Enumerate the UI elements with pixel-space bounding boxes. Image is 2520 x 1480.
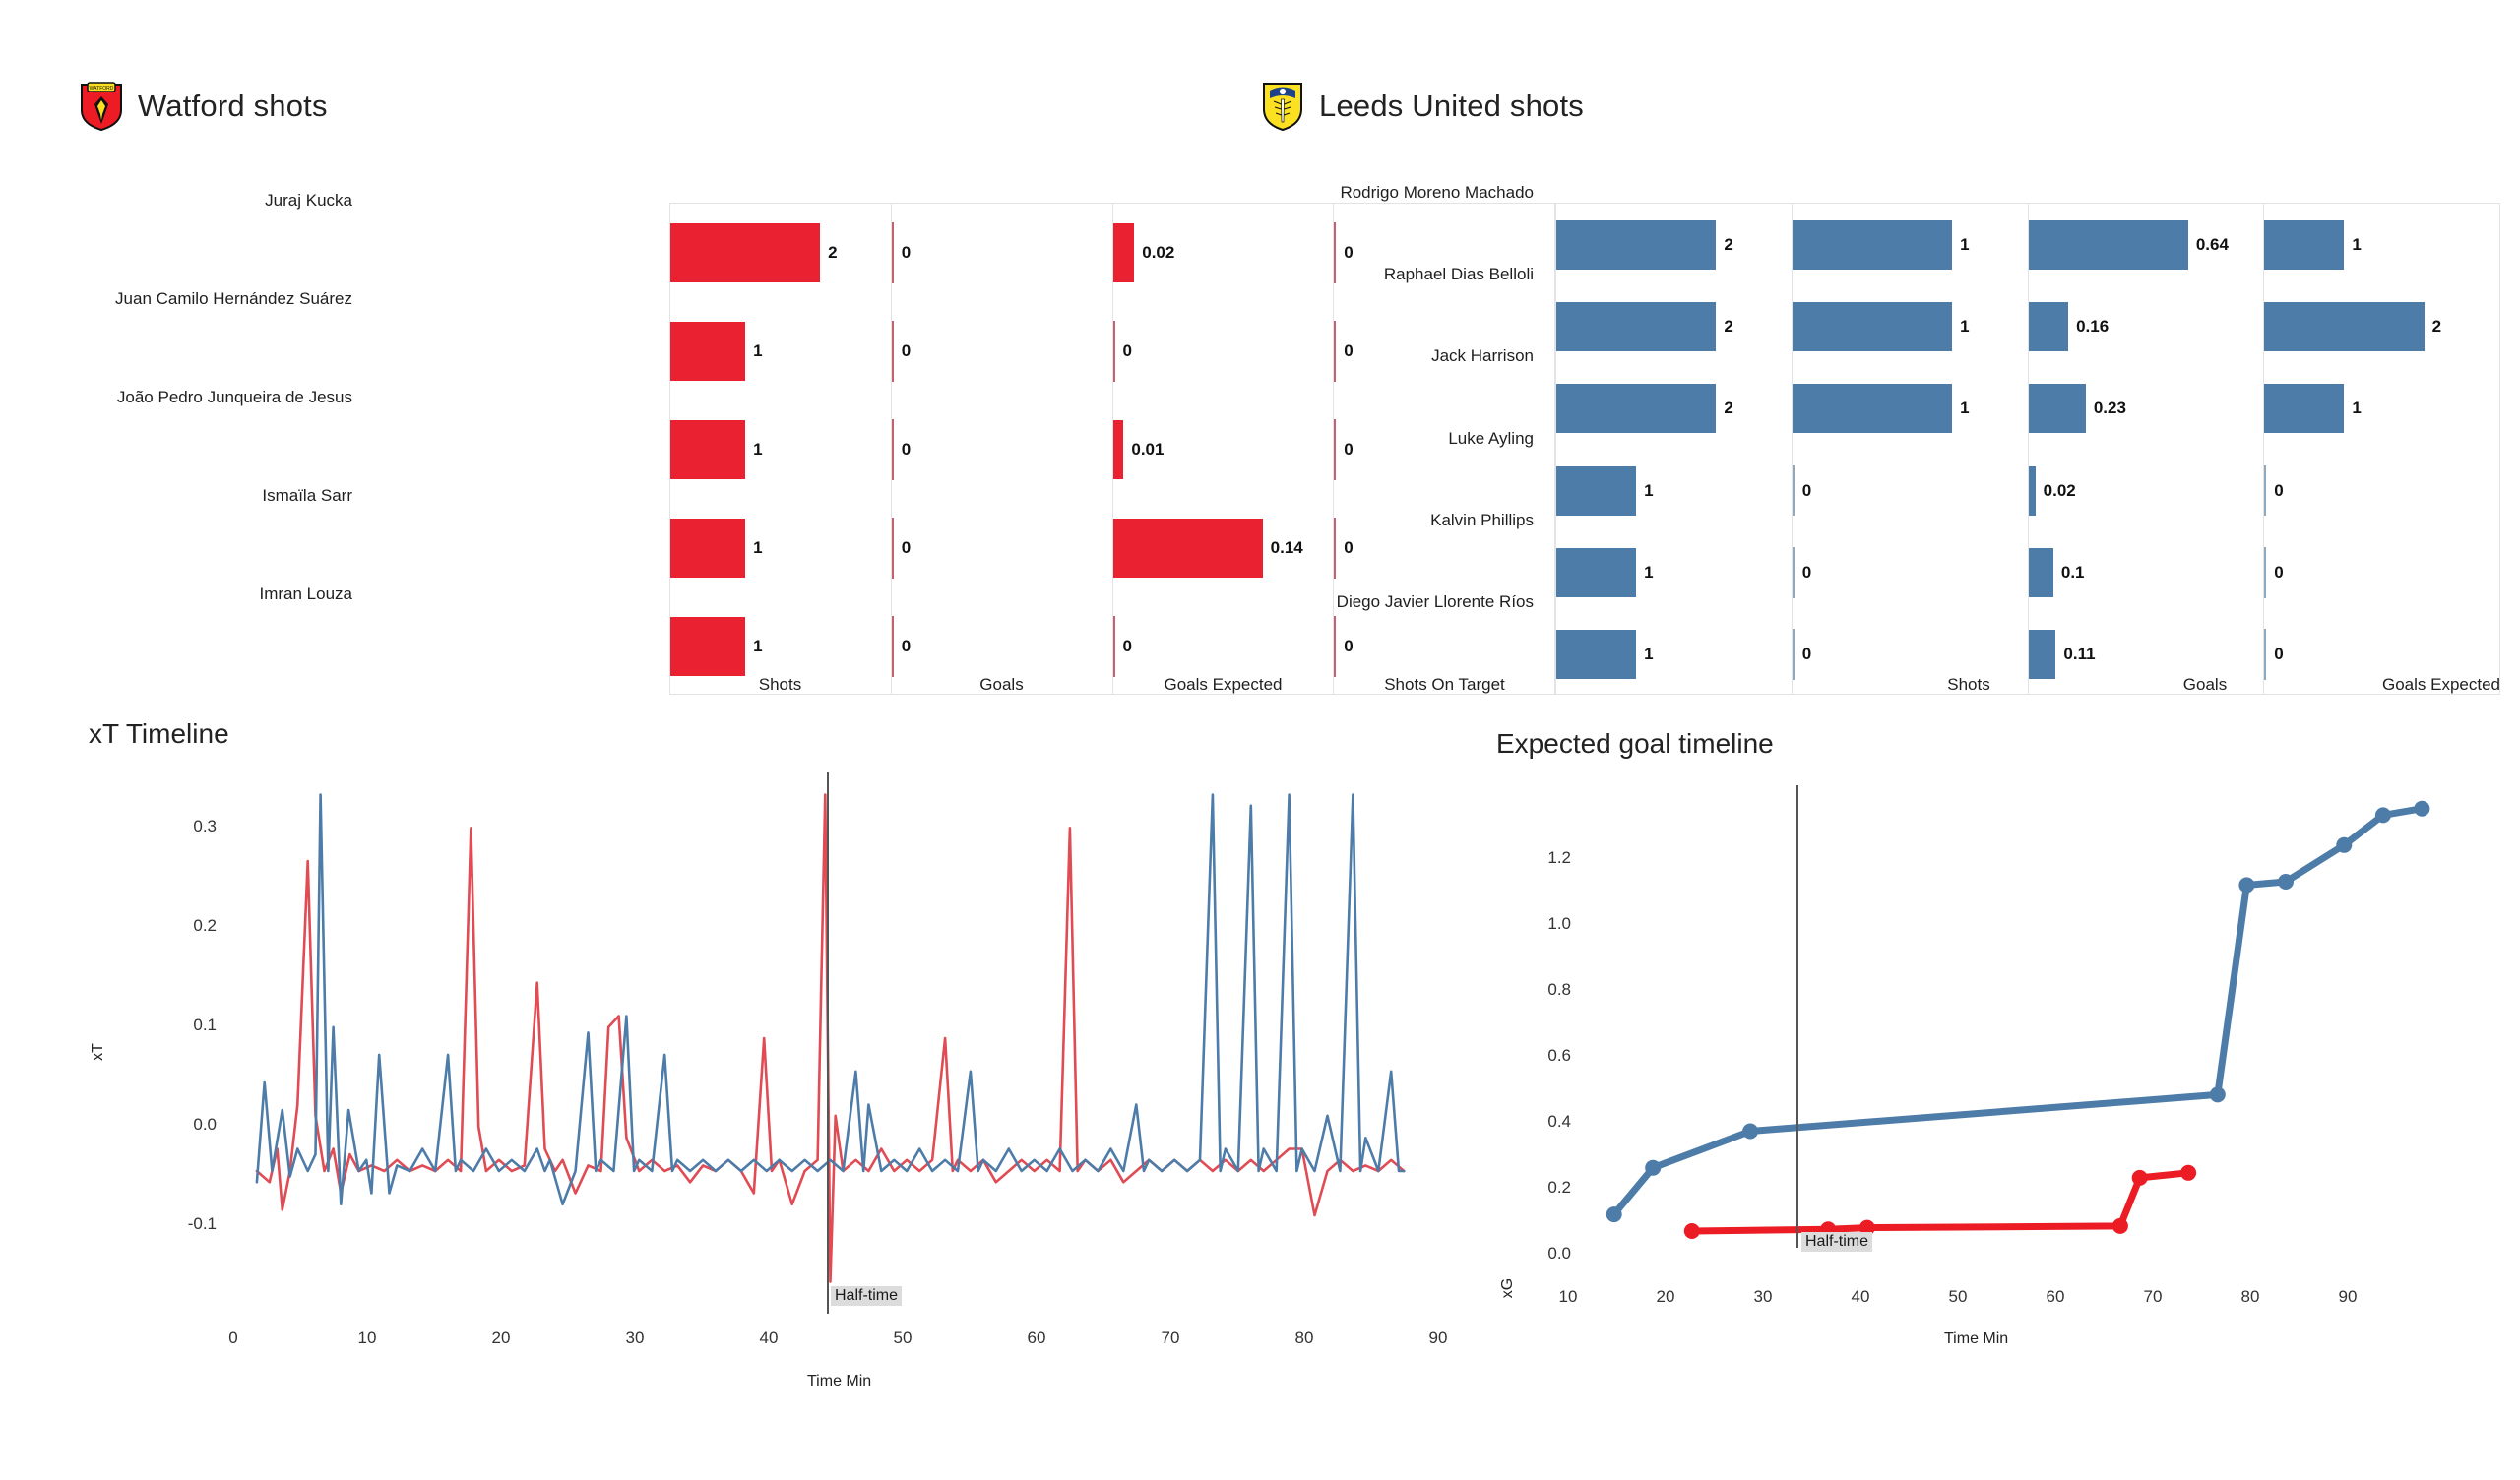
bar-value-label: 2 — [1724, 399, 1732, 418]
player-name-label: Luke Ayling — [1238, 417, 1545, 461]
bar-value-label: 1 — [1960, 235, 1969, 255]
bar-value-label: 1 — [1644, 563, 1653, 583]
zero-tick-mark — [892, 321, 894, 382]
bar-row: 1 — [2264, 204, 2499, 285]
bar-row: 0 — [892, 204, 1112, 302]
bar-value-label: 1 — [753, 538, 762, 558]
value-bar — [1556, 220, 1716, 270]
zero-tick-mark — [892, 222, 894, 283]
column-header-shots: Shots — [1851, 675, 2087, 695]
bar-row: 0 — [1793, 531, 2028, 613]
player-name-label: Kalvin Phillips — [1238, 499, 1545, 542]
xg-plot-area — [1585, 785, 2461, 1258]
column-header-goals-expected: Goals Expected — [1112, 675, 1334, 695]
xt-timeline-chart: xT Timeline xT 0.30.20.10.0-0.1 01020304… — [79, 718, 1457, 1427]
value-bar — [1793, 302, 1952, 351]
bar-value-label: 0.1 — [2061, 563, 2085, 583]
zero-tick-mark — [1113, 616, 1115, 677]
bar-value-label: 0 — [2274, 645, 2283, 664]
bar-value-label: 0 — [2274, 481, 2283, 501]
bar-value-label: 1 — [1960, 317, 1969, 337]
bar-value-label: 1 — [1644, 645, 1653, 664]
player-name-label: Diego Javier Llorente Ríos — [1238, 581, 1545, 624]
bar-value-label: 0 — [1123, 637, 1132, 656]
y-tick-label: 0.1 — [138, 1016, 217, 1035]
x-tick-label: 30 — [615, 1328, 655, 1348]
player-name-label: Rodrigo Moreno Machado — [1238, 171, 1545, 215]
player-name-label: Juraj Kucka — [57, 179, 364, 222]
data-point-marker — [1645, 1160, 1661, 1176]
bar-value-label: 2 — [1724, 235, 1732, 255]
leeds-shots-grid: 2221111110000.640.160.230.020.10.1112100… — [1555, 203, 2500, 695]
bar-value-label: 0 — [1802, 645, 1811, 664]
leeds-crest-icon — [1260, 81, 1305, 132]
y-tick-label: 0.2 — [1506, 1178, 1571, 1198]
value-bar — [1556, 466, 1636, 516]
metric-column-shots: 222111 — [1556, 204, 1793, 694]
bar-value-label: 0.64 — [2196, 235, 2229, 255]
series-line-leeds-united — [1614, 809, 2423, 1214]
series-line-watford — [257, 795, 1404, 1282]
bar-row: 0 — [892, 302, 1112, 401]
bar-value-label: 1 — [2352, 235, 2361, 255]
zero-tick-mark — [2264, 547, 2266, 598]
data-point-marker — [1606, 1206, 1622, 1222]
zero-tick-mark — [892, 419, 894, 480]
x-tick-label: 50 — [883, 1328, 922, 1348]
xg-timeline-chart: Expected goal timeline xG 1.21.00.80.60.… — [1496, 728, 2481, 1417]
metric-column-goals-expected: 0.640.160.230.020.10.11 — [2029, 204, 2265, 694]
bar-value-label: 0 — [1123, 341, 1132, 361]
zero-tick-mark — [1113, 321, 1115, 382]
value-bar — [2264, 302, 2424, 351]
x-tick-label: 60 — [1017, 1328, 1056, 1348]
bar-row: 0 — [2264, 531, 2499, 613]
x-tick-label: 90 — [2328, 1287, 2367, 1307]
player-name-label: Jack Harrison — [1238, 335, 1545, 378]
leeds-panel-header: Leeds United shots — [1260, 81, 2481, 132]
xt-plot-area — [231, 772, 1442, 1304]
data-point-marker — [2238, 877, 2254, 893]
bar-row: 1 — [1556, 614, 1792, 696]
svg-text:WATFORD: WATFORD — [90, 86, 114, 92]
x-tick-label: 60 — [2036, 1287, 2075, 1307]
xt-y-axis-label: xT — [90, 1022, 107, 1081]
value-bar — [670, 420, 745, 479]
data-point-marker — [1742, 1124, 1758, 1140]
x-tick-label: 50 — [1938, 1287, 1978, 1307]
y-tick-label: -0.1 — [138, 1214, 217, 1234]
bar-row: 0.02 — [2029, 450, 2264, 531]
x-tick-label: 90 — [1418, 1328, 1458, 1348]
value-bar — [1113, 223, 1135, 282]
data-point-marker — [2210, 1086, 2226, 1102]
column-header-shots-on-target: Shots On Target — [1334, 675, 1555, 695]
watford-panel-title: Watford shots — [138, 89, 328, 124]
bar-row: 1 — [1793, 204, 2028, 285]
y-tick-label: 0.6 — [1506, 1046, 1571, 1066]
series-line-leeds-united — [257, 795, 1404, 1204]
bar-row: 2 — [1556, 285, 1792, 367]
bar-value-label: 0.01 — [1131, 440, 1164, 460]
bar-row: 1 — [670, 401, 891, 499]
xt-x-axis-label: Time Min — [807, 1373, 871, 1390]
x-tick-label: 70 — [1151, 1328, 1190, 1348]
value-bar — [1113, 420, 1124, 479]
player-name-label: Imran Louza — [57, 573, 364, 616]
y-tick-label: 1.0 — [1506, 914, 1571, 934]
value-bar — [2029, 466, 2036, 516]
x-tick-label: 70 — [2133, 1287, 2173, 1307]
bar-value-label: 0 — [1802, 563, 1811, 583]
x-tick-label: 80 — [1285, 1328, 1324, 1348]
bar-value-label: 0.02 — [1142, 243, 1174, 263]
value-bar — [670, 519, 745, 578]
value-bar — [2029, 302, 2069, 351]
value-bar — [670, 322, 745, 381]
bar-row: 1 — [1556, 450, 1792, 531]
zero-tick-mark — [2264, 629, 2266, 680]
x-tick-label: 30 — [1743, 1287, 1783, 1307]
bar-value-label: 0 — [902, 538, 911, 558]
bar-row: 1 — [1793, 285, 2028, 367]
bar-row: 0 — [892, 499, 1112, 597]
bar-row: 1 — [2264, 368, 2499, 450]
y-tick-label: 0.4 — [1506, 1112, 1571, 1132]
zero-tick-mark — [2264, 465, 2266, 517]
bar-row: 0.23 — [2029, 368, 2264, 450]
value-bar — [1556, 302, 1716, 351]
leeds-panel-title: Leeds United shots — [1319, 89, 1584, 124]
data-point-marker — [2132, 1170, 2148, 1186]
xg-y-axis-label: xG — [1499, 1259, 1517, 1318]
value-bar — [2029, 548, 2053, 597]
bar-row: 2 — [1556, 204, 1792, 285]
bar-value-label: 0 — [2274, 563, 2283, 583]
metric-column-goals: 111000 — [1793, 204, 2029, 694]
bar-row: 0 — [2264, 450, 2499, 531]
bar-value-label: 0.02 — [2044, 481, 2076, 501]
bar-value-label: 1 — [753, 440, 762, 460]
player-name-label: João Pedro Junqueira de Jesus — [57, 376, 364, 419]
bar-row: 0.16 — [2029, 285, 2264, 367]
zero-tick-mark — [1793, 465, 1795, 517]
x-tick-label: 80 — [2231, 1287, 2270, 1307]
value-bar — [670, 223, 820, 282]
xt-halftime-badge: Half-time — [831, 1286, 902, 1306]
zero-tick-mark — [1793, 629, 1795, 680]
value-bar — [2264, 220, 2344, 270]
data-point-marker — [2336, 837, 2352, 853]
data-point-marker — [2414, 801, 2429, 817]
xg-chart-title: Expected goal timeline — [1496, 728, 1774, 760]
x-tick-label: 40 — [749, 1328, 788, 1348]
bar-value-label: 0 — [902, 341, 911, 361]
player-name-label: Ismaïla Sarr — [57, 474, 364, 518]
bar-row: 1 — [670, 499, 891, 597]
bar-row: 0.64 — [2029, 204, 2264, 285]
value-bar — [2264, 384, 2344, 433]
watford-crest-icon: WATFORD — [79, 81, 124, 132]
bar-value-label: 0.16 — [2076, 317, 2109, 337]
bar-value-label: 0 — [1802, 481, 1811, 501]
bar-row: 1 — [1793, 368, 2028, 450]
data-point-marker — [2112, 1218, 2128, 1234]
value-bar — [1556, 630, 1636, 679]
player-name-label: Juan Camilo Hernández Suárez — [57, 277, 364, 321]
data-point-marker — [2180, 1165, 2196, 1181]
xg-x-axis-label: Time Min — [1944, 1330, 2008, 1348]
bar-value-label: 2 — [1724, 317, 1732, 337]
x-tick-label: 20 — [1646, 1287, 1685, 1307]
bar-row: 0.1 — [2029, 531, 2264, 613]
zero-tick-mark — [892, 616, 894, 677]
bar-value-label: 1 — [753, 637, 762, 656]
bar-row: 1 — [1556, 531, 1792, 613]
bar-row: 2 — [2264, 285, 2499, 367]
y-tick-label: 1.2 — [1506, 848, 1571, 868]
x-tick-label: 10 — [1548, 1287, 1588, 1307]
value-bar — [1793, 384, 1952, 433]
bar-value-label: 1 — [1960, 399, 1969, 418]
watford-shots-panel: WATFORD Watford shots Juraj KuckaJuan Ca… — [79, 81, 1260, 624]
x-tick-label: 40 — [1841, 1287, 1880, 1307]
watford-panel-header: WATFORD Watford shots — [79, 81, 1260, 132]
x-tick-label: 10 — [347, 1328, 387, 1348]
bar-value-label: 2 — [828, 243, 837, 263]
value-bar — [1556, 548, 1636, 597]
data-point-marker — [1684, 1223, 1700, 1239]
value-bar — [1556, 384, 1716, 433]
zero-tick-mark — [1793, 547, 1795, 598]
xt-chart-title: xT Timeline — [89, 718, 229, 750]
zero-tick-mark — [892, 518, 894, 579]
bar-value-label: 0.23 — [2094, 399, 2126, 418]
bar-row: 0 — [892, 401, 1112, 499]
xg-halftime-line — [1796, 785, 1798, 1248]
bar-row: 2 — [670, 204, 891, 302]
bar-value-label: 0 — [902, 243, 911, 263]
value-bar — [2029, 630, 2056, 679]
value-bar — [670, 617, 745, 676]
bar-value-label: 1 — [1644, 481, 1653, 501]
leeds-shots-panel: Leeds United shots Rodrigo Moreno Machad… — [1260, 81, 2481, 624]
data-point-marker — [2375, 807, 2391, 823]
bar-value-label: 0 — [902, 637, 911, 656]
leeds-player-labels: Rodrigo Moreno MachadoRaphael Dias Bello… — [1250, 152, 1545, 644]
column-header-goals-expected: Goals Expected — [2323, 675, 2520, 695]
x-tick-label: 20 — [481, 1328, 521, 1348]
data-point-marker — [2278, 874, 2294, 890]
metric-column-shots-on-target: 121000 — [2264, 204, 2499, 694]
column-header-goals: Goals — [2087, 675, 2323, 695]
column-header-goals: Goals — [891, 675, 1112, 695]
bar-value-label: 0 — [902, 440, 911, 460]
xt-halftime-line — [827, 772, 829, 1314]
bar-row: 2 — [1556, 368, 1792, 450]
x-tick-label: 0 — [214, 1328, 253, 1348]
bar-value-label: 2 — [2432, 317, 2441, 337]
column-header-shots: Shots — [669, 675, 891, 695]
y-tick-label: 0.2 — [138, 916, 217, 936]
bar-value-label: 1 — [2352, 399, 2361, 418]
metric-column-shots: 21111 — [670, 204, 892, 694]
value-bar — [2029, 220, 2188, 270]
metric-column-goals: 00000 — [892, 204, 1113, 694]
xg-halftime-badge: Half-time — [1801, 1232, 1872, 1252]
value-bar — [1793, 220, 1952, 270]
bar-value-label: 1 — [753, 341, 762, 361]
value-bar — [2029, 384, 2086, 433]
bar-value-label: 0.11 — [2063, 645, 2095, 664]
y-tick-label: 0.8 — [1506, 980, 1571, 1000]
watford-player-labels: Juraj KuckaJuan Camilo Hernández SuárezJ… — [69, 152, 364, 644]
y-tick-label: 0.3 — [138, 817, 217, 836]
bar-row: 1 — [670, 302, 891, 401]
bar-row: 0 — [1793, 450, 2028, 531]
y-tick-label: 0.0 — [1506, 1244, 1571, 1264]
y-tick-label: 0.0 — [138, 1115, 217, 1135]
player-name-label: Raphael Dias Belloli — [1238, 253, 1545, 296]
